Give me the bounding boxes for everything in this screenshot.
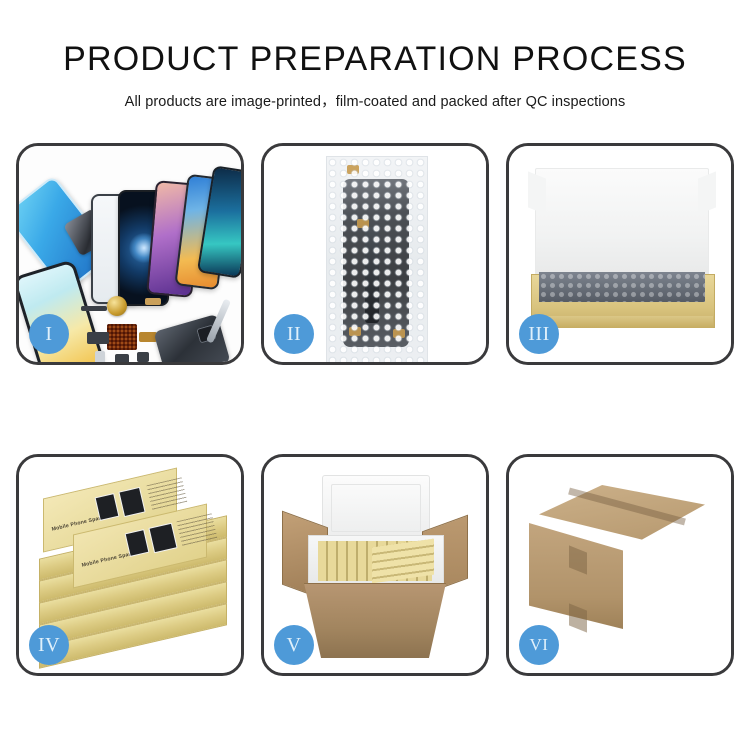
step-badge-3: III — [519, 314, 559, 354]
step-1-image: I — [19, 146, 241, 362]
page-subtitle: All products are image-printed，film-coat… — [0, 78, 750, 111]
step-3-image: III — [509, 146, 731, 362]
process-row-1: I II — [0, 143, 750, 365]
button-part-icon — [95, 351, 105, 362]
screw-part-icon — [137, 352, 149, 362]
step-6-image: VI — [509, 457, 731, 673]
product-preparation-infographic: PRODUCT PREPARATION PROCESS All products… — [0, 0, 750, 750]
bubble-texture — [327, 157, 427, 362]
step-panel-5[interactable]: V — [261, 454, 489, 676]
header: PRODUCT PREPARATION PROCESS All products… — [0, 0, 750, 111]
carton-body-icon — [304, 583, 446, 658]
step-badge-5: V — [274, 625, 314, 665]
page-title: PRODUCT PREPARATION PROCESS — [0, 0, 750, 78]
step-4-image: Mobile Phone Spare Parts Mobile Phone Sp… — [19, 457, 241, 673]
process-row-2: Mobile Phone Spare Parts Mobile Phone Sp… — [0, 454, 750, 676]
bubble-bag-icon — [326, 156, 428, 362]
bubble-wrapped-contents-icon — [539, 272, 705, 302]
foam-lid-open-icon — [322, 475, 430, 541]
step-panel-1[interactable]: I — [16, 143, 244, 365]
speaker-part-icon — [115, 354, 129, 362]
step-panel-3[interactable]: III — [506, 143, 734, 365]
step-panel-2[interactable]: II — [261, 143, 489, 365]
step-badge-1: I — [29, 314, 69, 354]
step-badge-4: IV — [29, 625, 69, 665]
step-panel-6[interactable]: VI — [506, 454, 734, 676]
step-5-image: V — [264, 457, 486, 673]
process-grid: I II — [0, 143, 750, 676]
step-2-image: II — [264, 146, 486, 362]
step-badge-6: VI — [519, 625, 559, 665]
step-badge-2: II — [274, 314, 314, 354]
kraft-box-front-edge-icon — [531, 316, 713, 328]
coil-part-icon — [107, 296, 127, 316]
bracket-part-icon — [87, 332, 109, 344]
step-panel-4[interactable]: Mobile Phone Spare Parts Mobile Phone Sp… — [16, 454, 244, 676]
gold-flex-part-icon — [145, 298, 161, 305]
connector-part-icon — [81, 306, 107, 311]
copper-grid-part-icon — [107, 324, 137, 350]
